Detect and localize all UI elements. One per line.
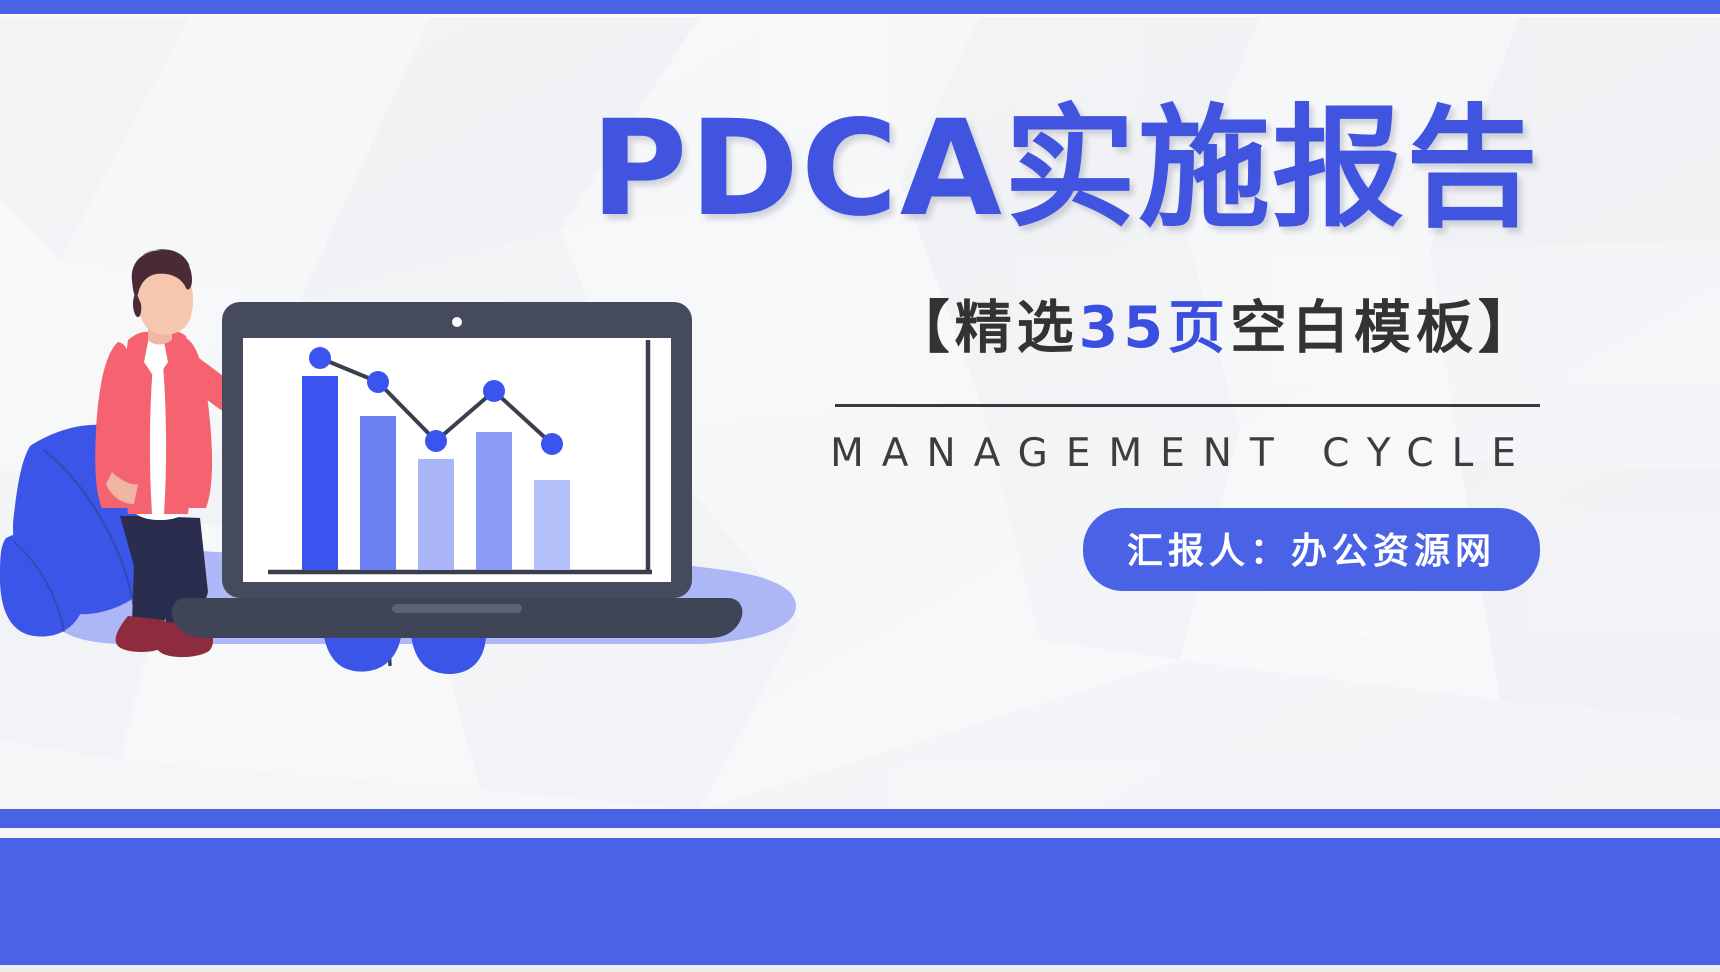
trend-point	[541, 433, 563, 455]
bar-2	[360, 416, 396, 570]
bar-1	[302, 376, 338, 570]
eyebrow-caption: MANAGEMENT CYCLE	[590, 431, 1540, 476]
subtitle-highlight: 35页	[1079, 295, 1230, 361]
bottom-accent-stripe	[0, 809, 1720, 828]
title-block: PDCA实施报告 【精选35页空白模板】 MANAGEMENT CYCLE 汇报…	[590, 96, 1540, 591]
subtitle-line: 【精选35页空白模板】	[590, 282, 1540, 364]
divider-rule	[835, 404, 1540, 407]
trend-point	[309, 347, 331, 369]
bar-4	[476, 432, 512, 570]
bottom-accent-block	[0, 838, 1720, 965]
presenter-badge[interactable]: 汇报人：办公资源网	[1083, 508, 1540, 591]
bottom-footer-strip	[0, 965, 1720, 972]
trend-point	[425, 430, 447, 452]
trend-point	[367, 371, 389, 393]
subtitle-open: 【精选	[893, 295, 1079, 361]
bar-3	[418, 459, 454, 570]
slide-canvas: PDCA实施报告 【精选35页空白模板】 MANAGEMENT CYCLE 汇报…	[0, 0, 1720, 972]
top-hairline	[0, 14, 1720, 17]
top-accent-band	[0, 0, 1720, 14]
trend-point	[483, 380, 505, 402]
subtitle-close: 空白模板】	[1230, 295, 1540, 361]
page-title: PDCA实施报告	[590, 96, 1540, 244]
bottom-band-gap	[0, 828, 1720, 838]
bar-5	[534, 480, 570, 570]
